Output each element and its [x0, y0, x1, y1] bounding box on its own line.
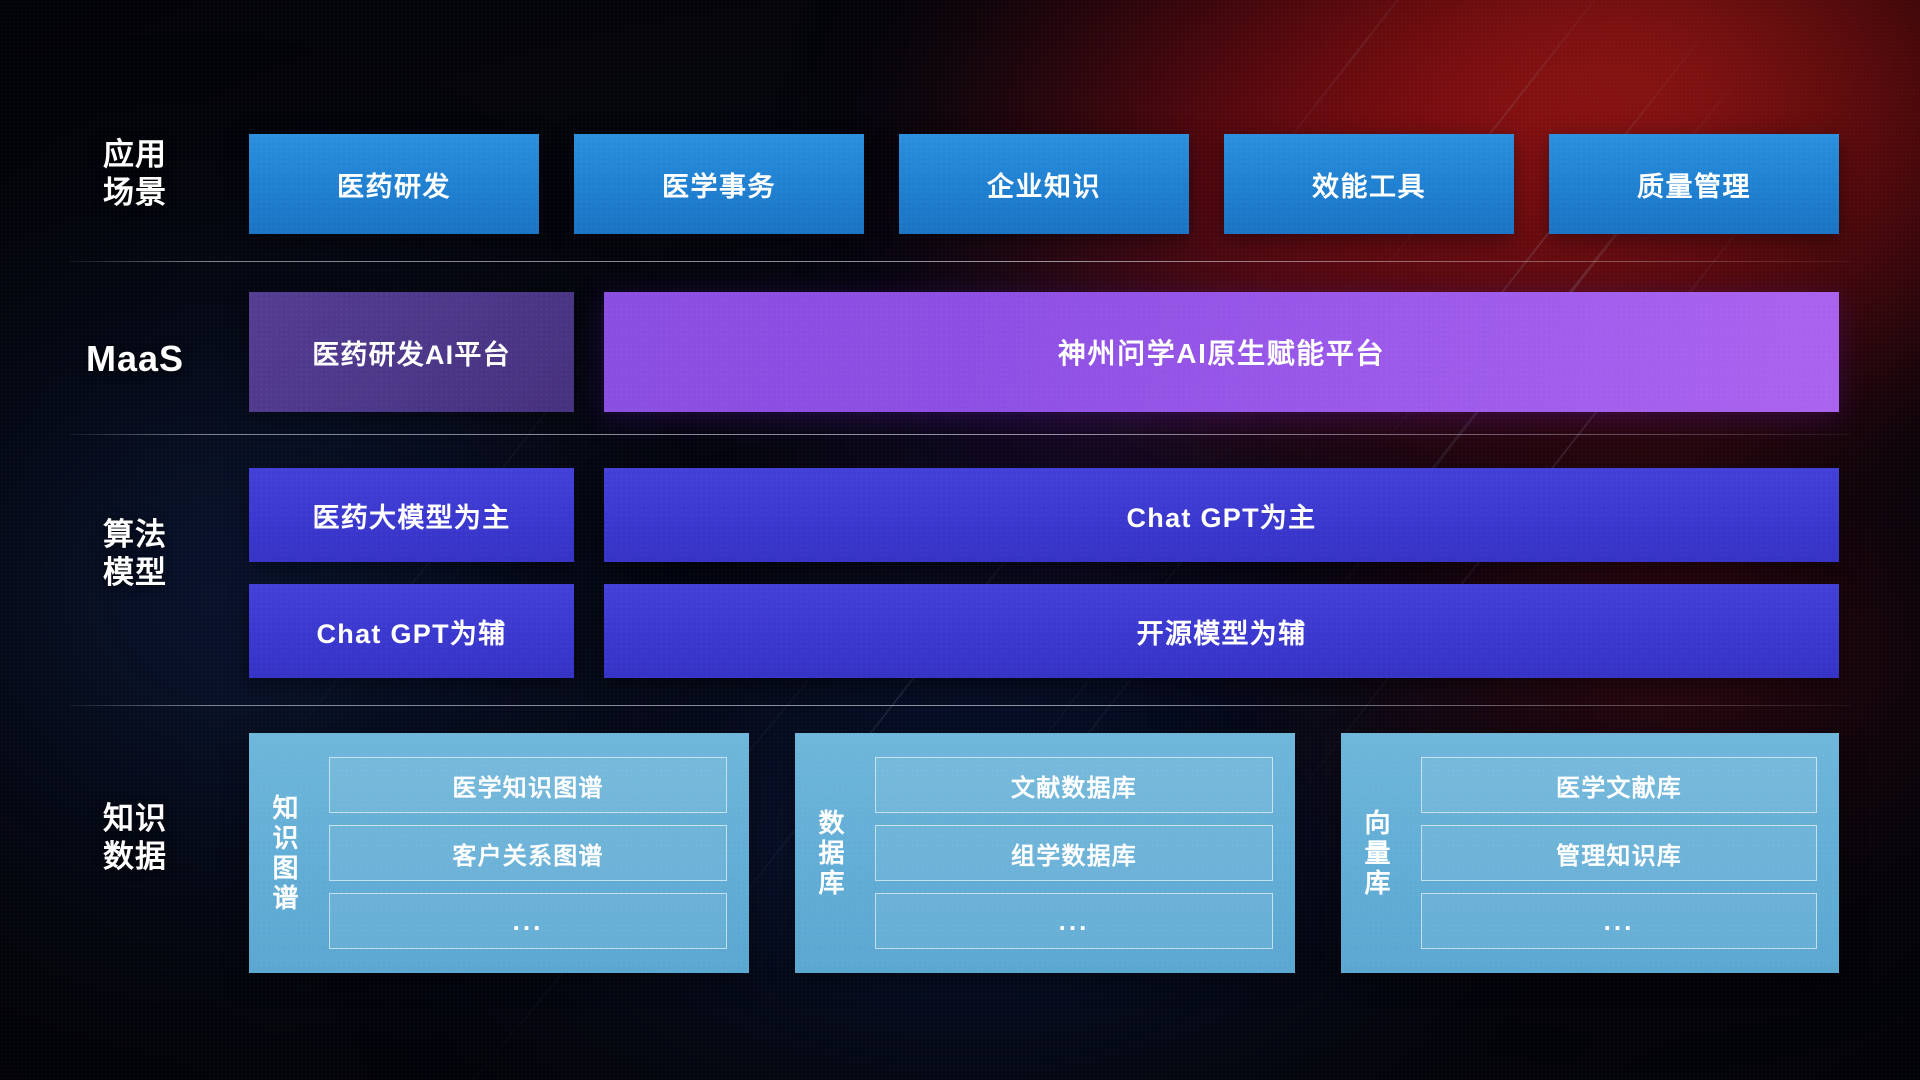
- algo-cell-label: Chat GPT为主: [1126, 496, 1316, 535]
- app-card-medicine-rd[interactable]: 医药研发: [249, 134, 539, 234]
- app-card-label: 医学事务: [662, 165, 776, 204]
- knowledge-item[interactable]: 客户关系图谱: [329, 825, 727, 881]
- layer-label-line: 场景: [70, 174, 200, 212]
- knowledge-item-list: 医学知识图谱 客户关系图谱 ...: [323, 733, 749, 973]
- knowledge-item[interactable]: 医学知识图谱: [329, 757, 727, 813]
- layer-label-line: 数据: [70, 838, 200, 876]
- group-label-char: 库: [818, 868, 845, 898]
- maas-platform-shenzhou-wenxue[interactable]: 神州问学AI原生赋能平台: [604, 292, 1839, 412]
- layer-label-line: 知识: [70, 800, 200, 838]
- app-card-enterprise-knowledge[interactable]: 企业知识: [899, 134, 1189, 234]
- knowledge-group-vector-store[interactable]: 向 量 库 医学文献库 管理知识库 ...: [1341, 733, 1839, 973]
- algo-cell-opensource-secondary[interactable]: 开源模型为辅: [604, 584, 1839, 678]
- algo-cell-chatgpt-secondary[interactable]: Chat GPT为辅: [249, 584, 574, 678]
- app-card-label: 效能工具: [1312, 165, 1426, 204]
- knowledge-item-more[interactable]: ...: [329, 893, 727, 949]
- group-label-char: 图: [272, 853, 299, 883]
- layer-label-algorithm: 算法 模型: [70, 516, 200, 592]
- group-label-char: 量: [1364, 838, 1391, 868]
- app-card-label: 医药研发: [337, 165, 451, 204]
- layer-label-line: 应用: [70, 136, 200, 174]
- layer-label-application: 应用 场景: [70, 136, 200, 212]
- algo-cell-chatgpt-primary[interactable]: Chat GPT为主: [604, 468, 1839, 562]
- group-label-char: 数: [818, 808, 845, 838]
- architecture-diagram: 应用 场景 医药研发 医学事务 企业知识 效能工具 质量管理 MaaS 医药研发…: [0, 0, 1920, 1080]
- algo-cell-label: 开源模型为辅: [1137, 612, 1307, 651]
- knowledge-item[interactable]: 医学文献库: [1421, 757, 1817, 813]
- layer-divider-3: [70, 705, 1850, 706]
- app-card-label: 质量管理: [1637, 165, 1751, 204]
- layer-label-maas: MaaS: [70, 337, 200, 381]
- layer-divider-1: [70, 261, 1850, 262]
- group-label-char: 知: [272, 793, 299, 823]
- group-label-char: 谱: [272, 883, 299, 913]
- maas-bar-label: 医药研发AI平台: [312, 333, 511, 372]
- layer-label-knowledge: 知识 数据: [70, 800, 200, 876]
- app-card-label: 企业知识: [987, 165, 1101, 204]
- knowledge-item-list: 文献数据库 组学数据库 ...: [869, 733, 1295, 973]
- algo-cell-label: 医药大模型为主: [312, 496, 510, 535]
- knowledge-group-label-database: 数 据 库: [795, 733, 869, 973]
- layer-label-line: MaaS: [70, 337, 200, 381]
- group-label-char: 向: [1364, 808, 1391, 838]
- layer-label-line: 模型: [70, 554, 200, 592]
- knowledge-item-more[interactable]: ...: [875, 893, 1273, 949]
- app-card-medical-affairs[interactable]: 医学事务: [574, 134, 864, 234]
- group-label-char: 库: [1364, 868, 1391, 898]
- knowledge-item-more[interactable]: ...: [1421, 893, 1817, 949]
- knowledge-item-list: 医学文献库 管理知识库 ...: [1415, 733, 1839, 973]
- knowledge-group-label-vector-store: 向 量 库: [1341, 733, 1415, 973]
- knowledge-group-database[interactable]: 数 据 库 文献数据库 组学数据库 ...: [795, 733, 1295, 973]
- maas-platform-medicine-rd[interactable]: 医药研发AI平台: [249, 292, 574, 412]
- maas-bar-label: 神州问学AI原生赋能平台: [1058, 332, 1385, 372]
- app-card-quality-management[interactable]: 质量管理: [1549, 134, 1839, 234]
- knowledge-group-label-knowledge-graph: 知 识 图 谱: [249, 733, 323, 973]
- knowledge-item[interactable]: 管理知识库: [1421, 825, 1817, 881]
- layer-divider-2: [70, 434, 1850, 435]
- app-card-efficiency-tools[interactable]: 效能工具: [1224, 134, 1514, 234]
- knowledge-item[interactable]: 组学数据库: [875, 825, 1273, 881]
- algo-cell-medicine-llm-primary[interactable]: 医药大模型为主: [249, 468, 574, 562]
- knowledge-item[interactable]: 文献数据库: [875, 757, 1273, 813]
- layer-label-line: 算法: [70, 516, 200, 554]
- algo-cell-label: Chat GPT为辅: [316, 612, 506, 651]
- knowledge-group-knowledge-graph[interactable]: 知 识 图 谱 医学知识图谱 客户关系图谱 ...: [249, 733, 749, 973]
- group-label-char: 据: [818, 838, 845, 868]
- group-label-char: 识: [272, 823, 299, 853]
